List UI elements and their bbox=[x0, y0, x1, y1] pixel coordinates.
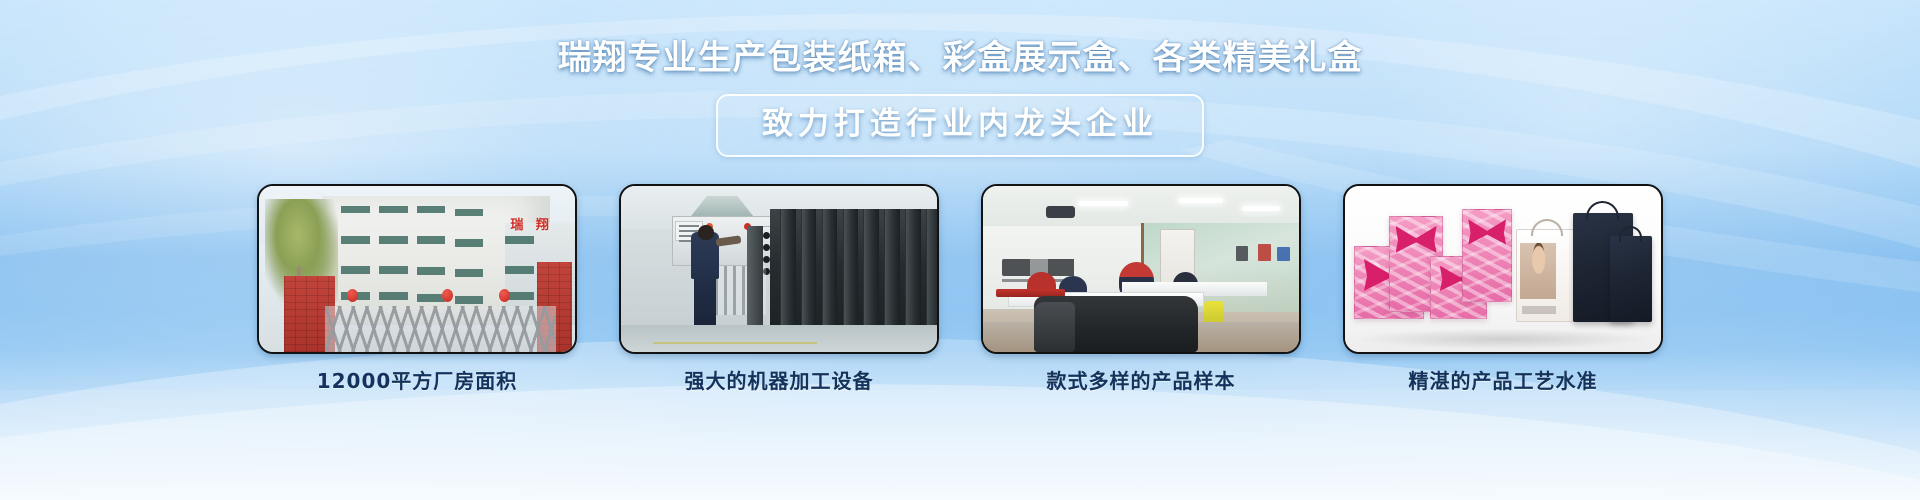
feature-caption: 强大的机器加工设备 bbox=[619, 368, 939, 394]
promo-banner: 瑞翔专业生产包装纸箱、彩盒展示盒、各类精美礼盒 致力打造行业内龙头企业 bbox=[0, 0, 1920, 500]
photo-gift-boxes bbox=[1343, 184, 1663, 354]
banner-subtitle-box: 致力打造行业内龙头企业 bbox=[716, 94, 1204, 157]
feature-card-factory[interactable]: 瑞 翔 12000平方厂房面积 bbox=[257, 184, 577, 394]
feature-card-machinery[interactable]: 强大的机器加工设备 bbox=[619, 184, 939, 394]
banner-subtitle: 致力打造行业内龙头企业 bbox=[762, 105, 1158, 143]
feature-card-row: 瑞 翔 12000平方厂房面积 bbox=[0, 184, 1920, 394]
banner-subtitle-wrap: 致力打造行业内龙头企业 bbox=[0, 94, 1920, 157]
banner-headline: 瑞翔专业生产包装纸箱、彩盒展示盒、各类精美礼盒 bbox=[0, 38, 1920, 78]
photo-showroom-interior bbox=[981, 184, 1301, 354]
feature-caption: 12000平方厂房面积 bbox=[257, 368, 577, 394]
feature-caption: 款式多样的产品样本 bbox=[981, 368, 1301, 394]
photo-printing-press bbox=[619, 184, 939, 354]
feature-card-craftsmanship[interactable]: 精湛的产品工艺水准 bbox=[1343, 184, 1663, 394]
feature-card-samples[interactable]: 款式多样的产品样本 bbox=[981, 184, 1301, 394]
photo-factory-building: 瑞 翔 bbox=[257, 184, 577, 354]
factory-sign-text: 瑞 翔 bbox=[510, 214, 553, 233]
feature-caption: 精湛的产品工艺水准 bbox=[1343, 368, 1663, 394]
